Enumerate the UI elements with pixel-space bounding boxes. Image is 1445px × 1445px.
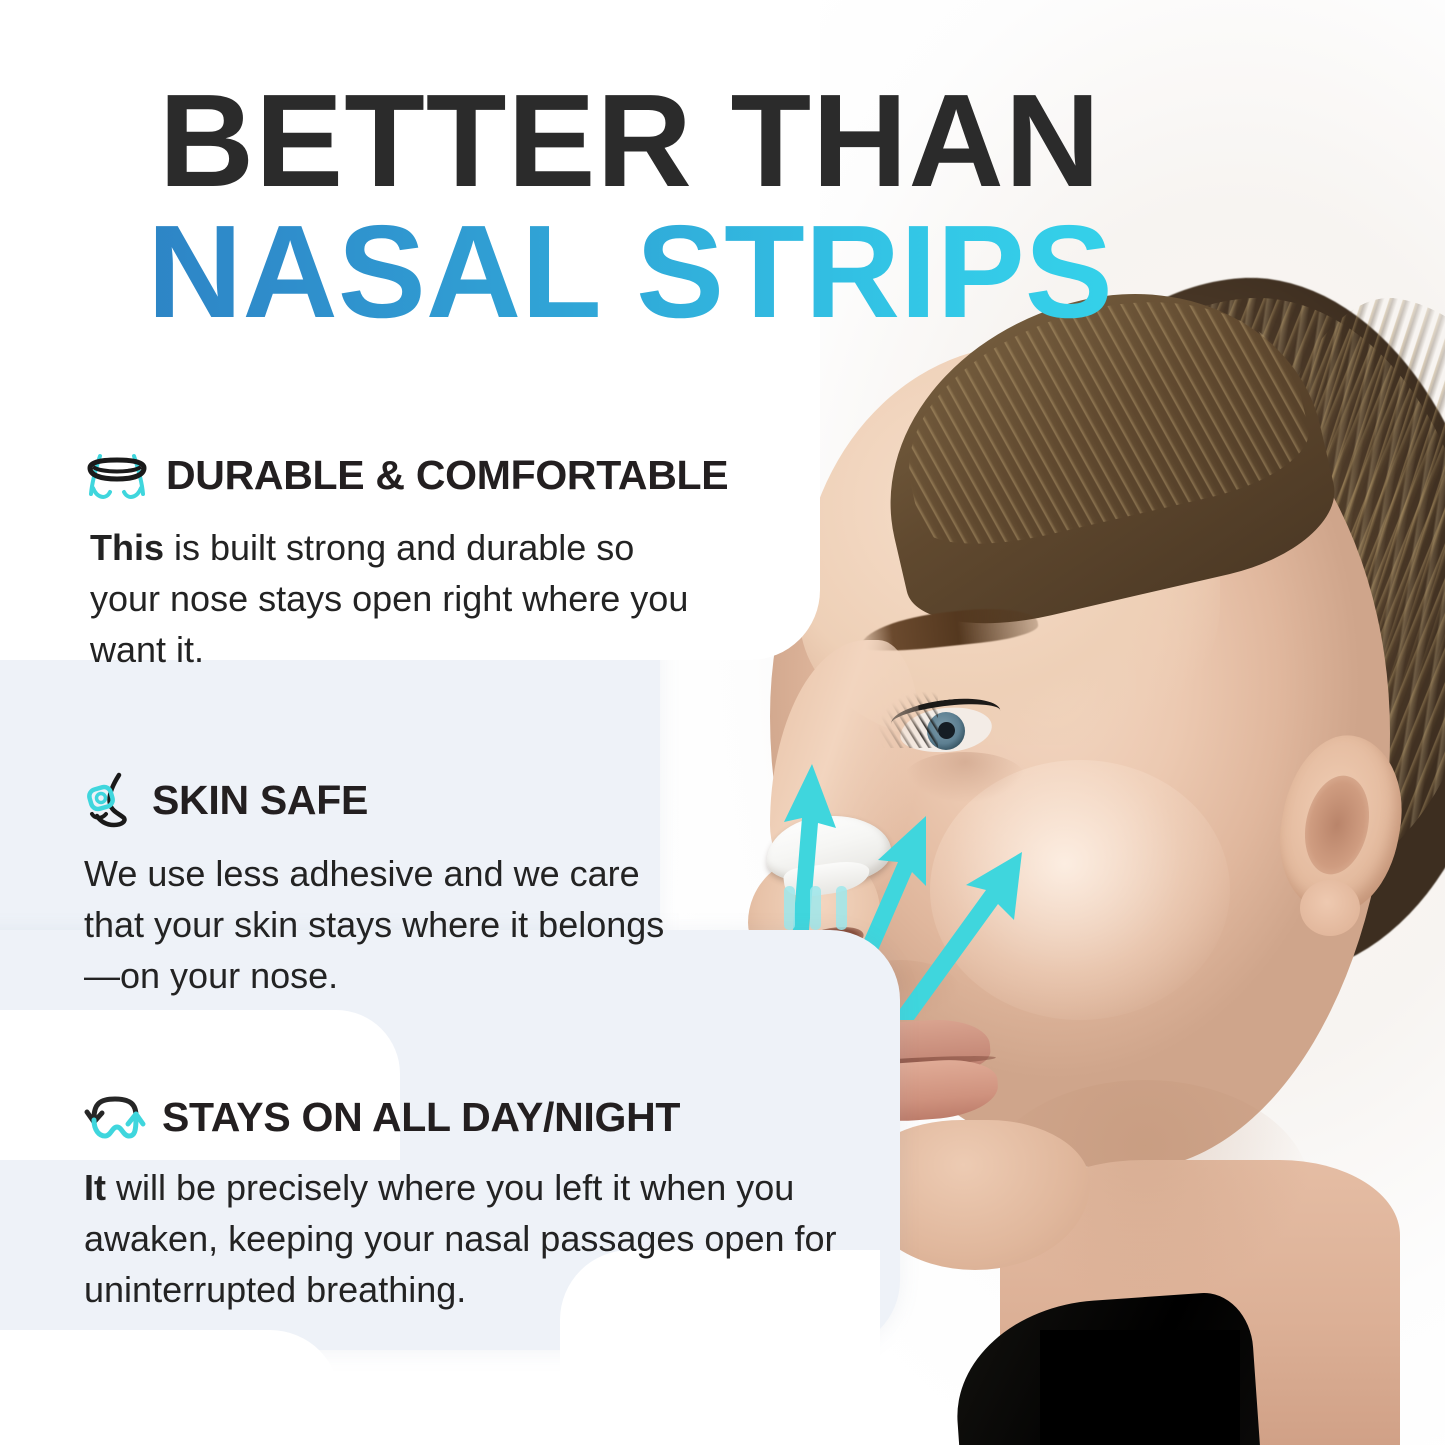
feature-skin-safe: SKIN SAFE We use less adhesive and we ca… xyxy=(84,772,704,1001)
feature-title: SKIN SAFE xyxy=(152,777,368,824)
feature-stays-on-day-night: STAYS ON ALL DAY/NIGHT Itwill be precise… xyxy=(84,1092,924,1315)
feature-body-lead: This xyxy=(90,527,164,568)
nose-with-strip-icon xyxy=(84,448,150,502)
feature-title: STAYS ON ALL DAY/NIGHT xyxy=(162,1094,680,1141)
feature-body: Itwill be precisely where you left it wh… xyxy=(84,1162,914,1315)
day-night-cycle-icon xyxy=(84,1092,146,1142)
feature-durable-comfortable: DURABLE & COMFORTABLE This is built stro… xyxy=(84,448,844,675)
feature-body: We use less adhesive and we care that yo… xyxy=(84,848,684,1001)
headline-line-2: NASAL STRIPS xyxy=(0,209,1260,336)
feature-heading-row: SKIN SAFE xyxy=(84,772,704,828)
feature-body-rest: We use less adhesive and we care that yo… xyxy=(84,853,664,996)
feature-body-rest: is built strong and durable so your nose… xyxy=(90,527,688,670)
feature-body-rest: will be precisely where you left it when… xyxy=(84,1167,837,1310)
feature-body-lead: It xyxy=(84,1167,106,1208)
feature-body: This is built strong and durable so your… xyxy=(84,522,704,675)
feature-heading-row: STAYS ON ALL DAY/NIGHT xyxy=(84,1092,924,1142)
feature-title: DURABLE & COMFORTABLE xyxy=(166,452,728,499)
headline-line-1: BETTER THAN xyxy=(0,78,1260,205)
text-layer: BETTER THAN NASAL STRIPS DURABLE & COMFO… xyxy=(0,0,1445,1445)
nose-profile-patch-icon xyxy=(84,772,136,828)
feature-heading-row: DURABLE & COMFORTABLE xyxy=(84,448,844,502)
headline: BETTER THAN NASAL STRIPS xyxy=(0,78,1260,335)
infographic-canvas: BETTER THAN NASAL STRIPS DURABLE & COMFO… xyxy=(0,0,1445,1445)
